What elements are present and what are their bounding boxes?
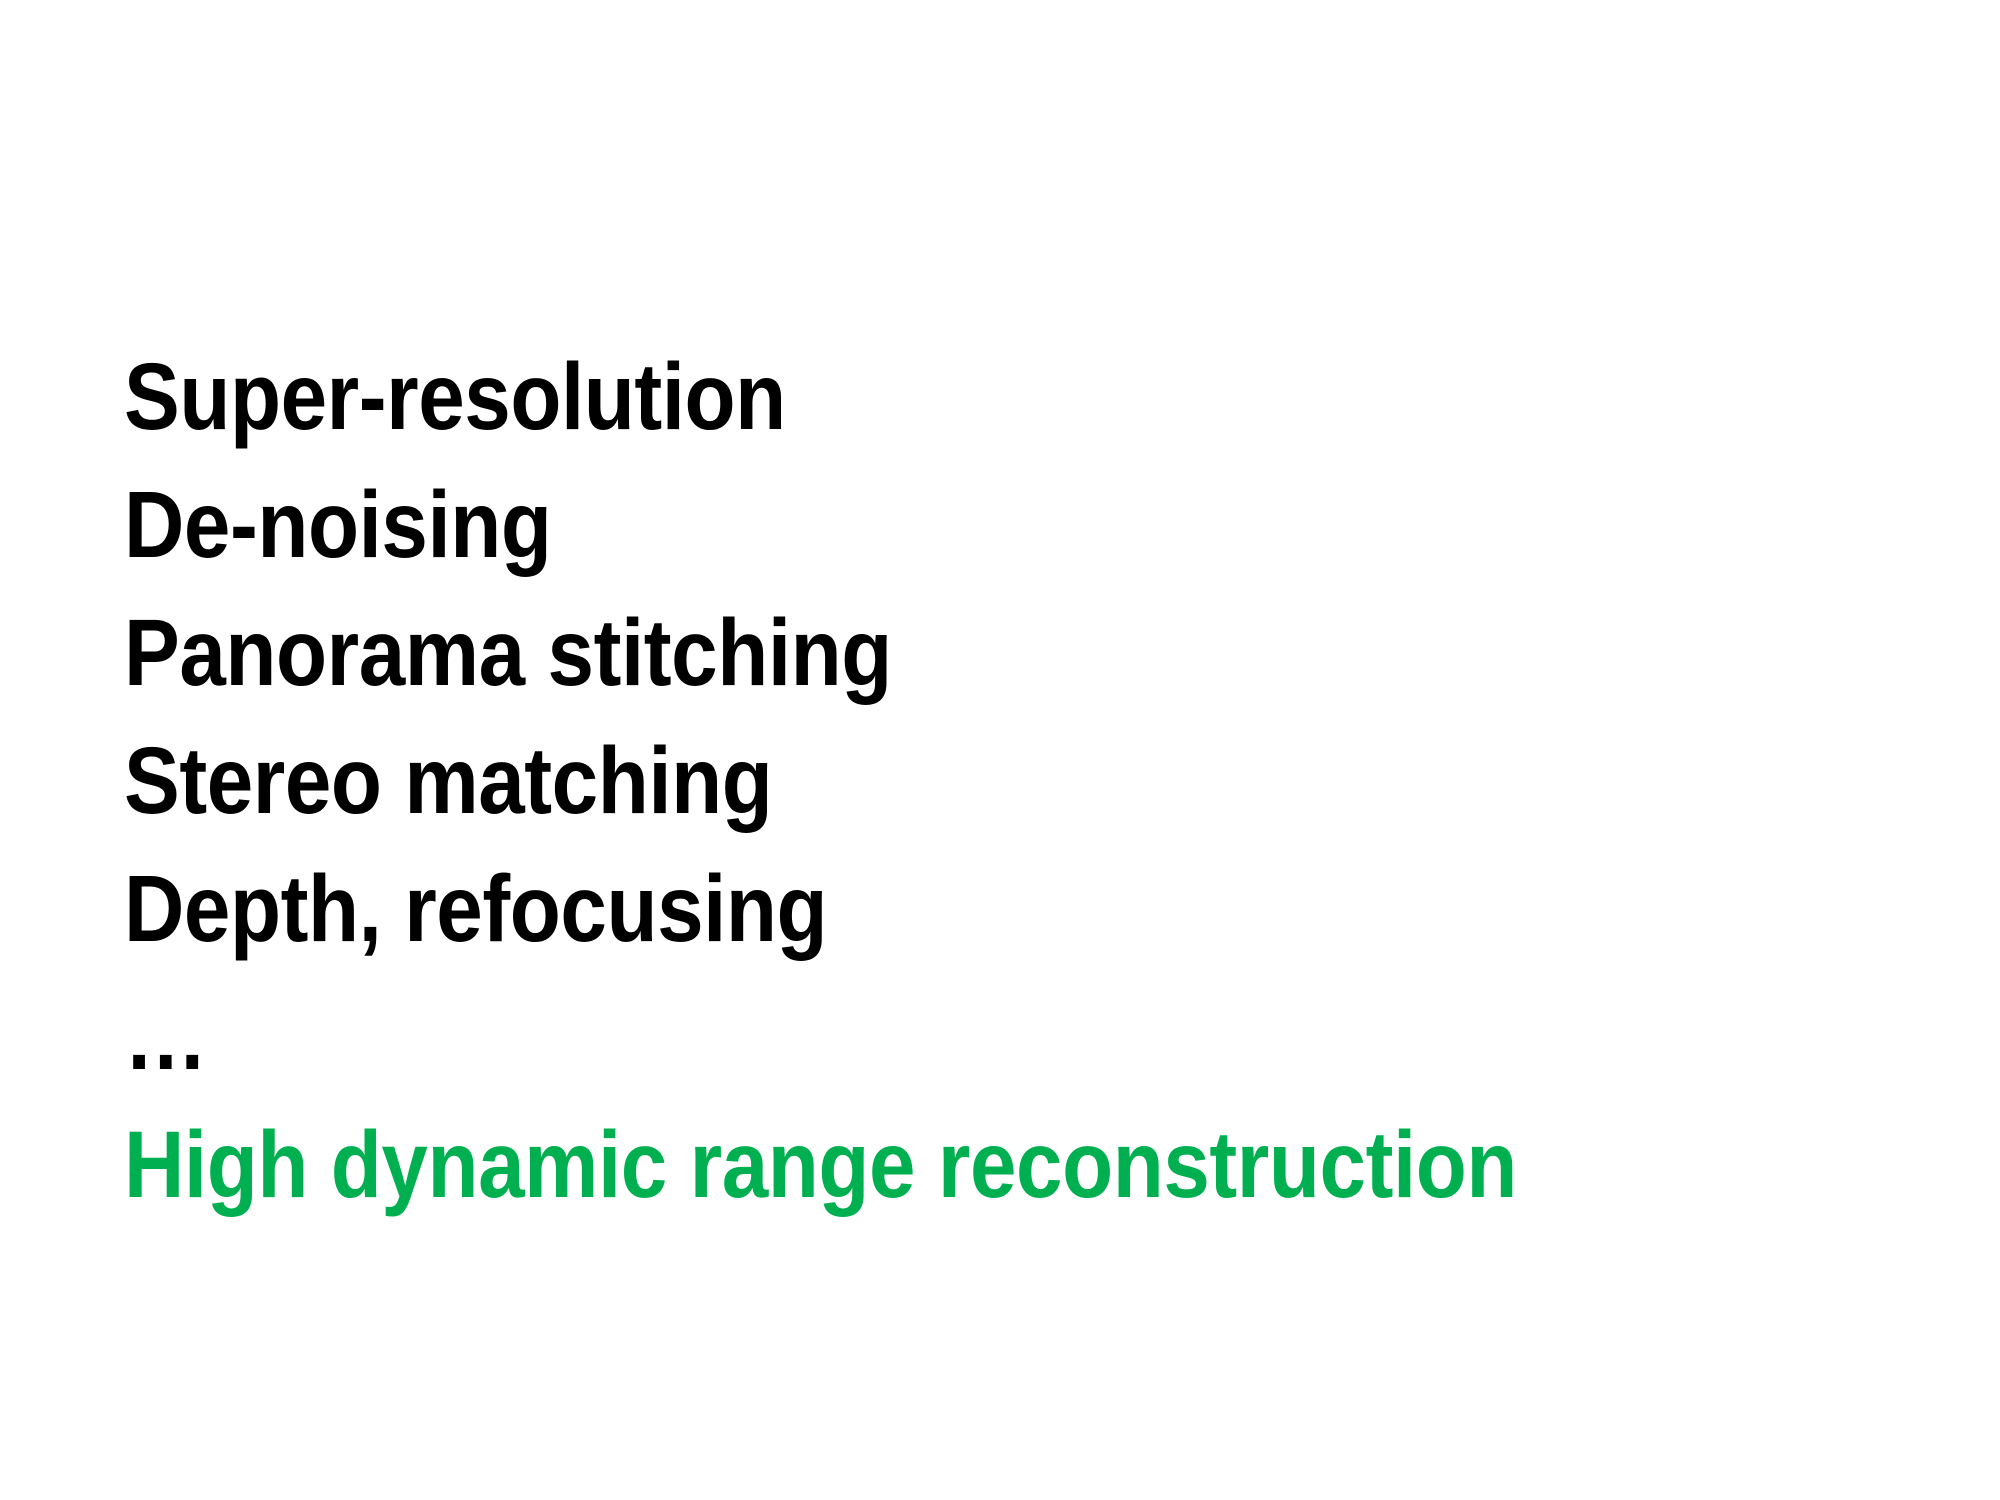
list-item-panorama-stitching: Panorama stitching (124, 589, 1673, 717)
list-item-stereo-matching: Stereo matching (124, 717, 1673, 845)
slide-canvas: Super-resolution De-noising Panorama sti… (0, 0, 2000, 1500)
list-item-hdr-reconstruction: High dynamic range reconstruction (124, 1101, 1673, 1229)
list-item-de-noising: De-noising (124, 461, 1673, 589)
list-item-super-resolution: Super-resolution (124, 333, 1673, 461)
task-list: Super-resolution De-noising Panorama sti… (124, 333, 1884, 1229)
list-item-depth-refocusing: Depth, refocusing (124, 845, 1673, 973)
list-item-ellipsis: … (124, 973, 1673, 1101)
